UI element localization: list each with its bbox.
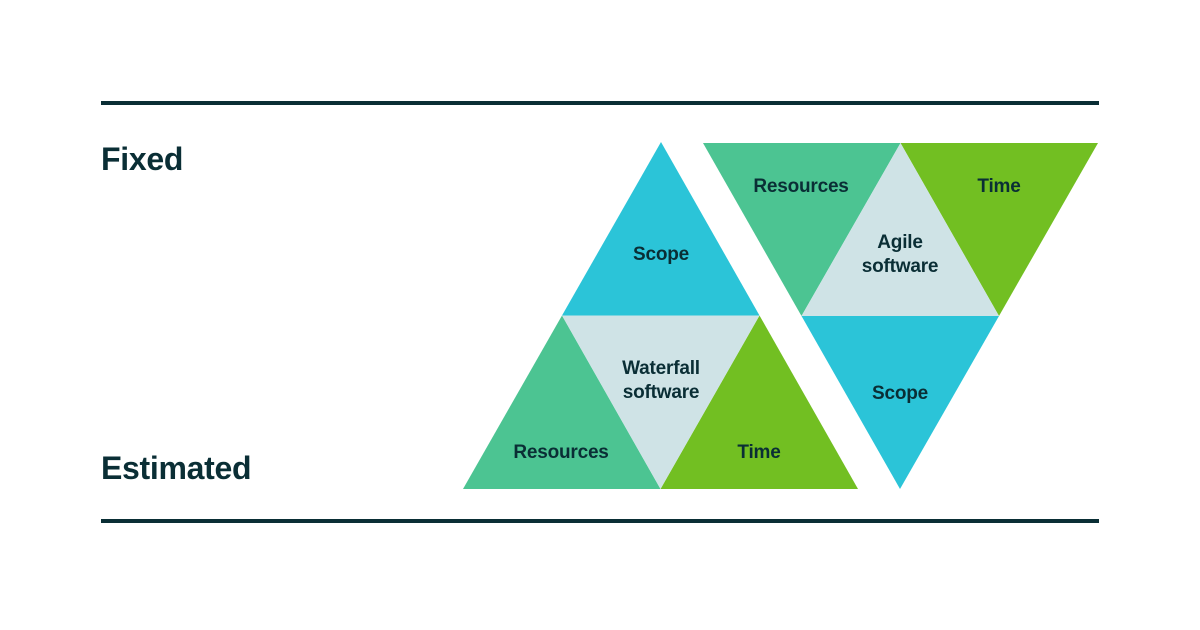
waterfall-label-resources: Resources <box>513 442 608 463</box>
agile-label-time: Time <box>977 176 1020 197</box>
waterfall-label-scope: Scope <box>633 244 689 265</box>
waterfall-label-center-line2: software <box>623 382 700 403</box>
agile-label-scope: Scope <box>872 383 928 404</box>
agile-label-resources: Resources <box>753 176 848 197</box>
agile-label-center-line1: Agile <box>877 232 922 253</box>
diagram-page: Fixed Estimated Scope Resources Time Wat… <box>0 0 1200 630</box>
waterfall-label-time: Time <box>737 442 780 463</box>
triangles-diagram: Scope Resources Time Waterfall software … <box>0 0 1200 630</box>
waterfall-label-center-line1: Waterfall <box>622 358 700 379</box>
agile-label-center-line2: software <box>862 256 939 277</box>
